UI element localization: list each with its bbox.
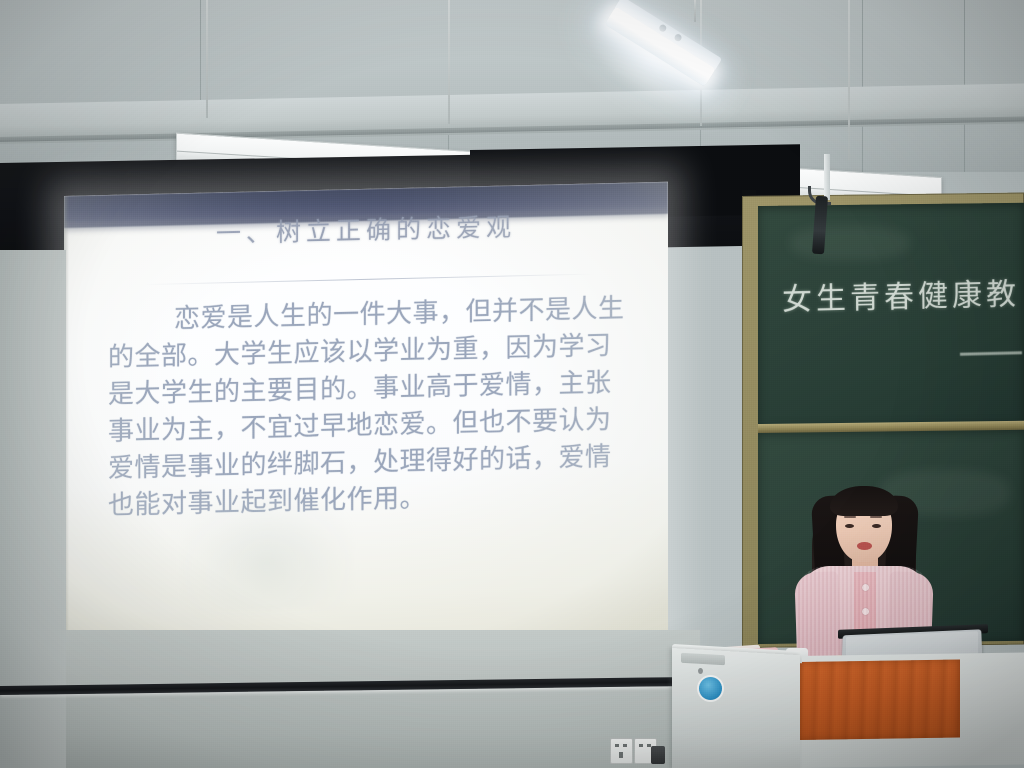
blue-round-sticker	[699, 677, 722, 700]
fluorescent-tube	[577, 0, 733, 122]
blackboard-chalk-text: 女生青春健康教	[782, 269, 1020, 319]
projection-screen[interactable]: 一、树立正确的恋爱观 恋爱是人生的一件大事，但并不是人生的全部。大学生应该以学业…	[64, 182, 668, 651]
mouth	[857, 542, 872, 550]
power-socket-left[interactable]	[610, 738, 633, 764]
light-suspension-rod	[448, 0, 450, 124]
slide-divider-rule	[144, 273, 596, 285]
podium-keyhole	[698, 668, 703, 674]
lower-wall	[0, 630, 700, 768]
slide-body-text: 恋爱是人生的一件大事，但并不是人生的全部。大学生应该以学业为重，因为学习是大学生…	[108, 291, 630, 525]
light-suspension-rod	[206, 0, 208, 118]
classroom-photo: 一、树立正确的恋爱观 恋爱是人生的一件大事，但并不是人生的全部。大学生应该以学业…	[0, 0, 1024, 768]
light-suspension-rod	[848, 0, 850, 160]
slide-watermark	[182, 489, 352, 613]
socket-slot	[639, 744, 643, 747]
socket-slot	[615, 744, 619, 747]
hair-fringe	[830, 486, 898, 516]
socket-slot	[619, 752, 623, 758]
chalk-smudge	[790, 226, 910, 260]
eye-right	[872, 524, 881, 528]
socket-slot	[623, 744, 627, 747]
eye-left	[845, 524, 854, 528]
eyebrow-right	[870, 516, 882, 518]
eyebrow-left	[844, 516, 856, 518]
podium-left-body	[672, 648, 800, 768]
podium-wood-panel	[800, 659, 960, 740]
